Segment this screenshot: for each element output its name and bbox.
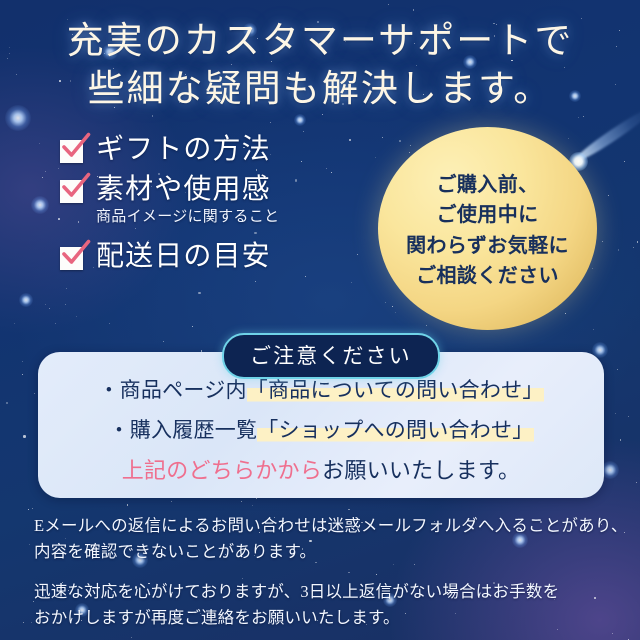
headline-line-1: 充実のカスタマーサポートで (0, 18, 640, 66)
notice-line-2-highlight: 「ショップへの問い合わせ」 (257, 418, 533, 442)
check-mark-glyph (61, 240, 91, 270)
check-mark-glyph (61, 173, 91, 203)
list-item-label: ギフトの方法 (96, 133, 271, 167)
check-mark-icon (60, 180, 83, 203)
list-item: 配送日の目安 (60, 240, 390, 274)
footer-p1-line2: 内容を確認できないことがあります。 (34, 539, 614, 565)
footer-p1-line1: Eメールへの返信によるお問い合わせは迷惑メールフォルダへ入ることがあり、 (34, 513, 614, 539)
footer-p2-line2: おかけしますが再度ご連絡をお願いいたします。 (34, 605, 614, 631)
list-item: 素材や使用感 (60, 173, 390, 207)
notice-line-3: 上記のどちらかからお願いいたします。 (38, 453, 604, 485)
check-mark-icon (60, 247, 83, 270)
status-badge: ご注意ください (222, 333, 440, 379)
notice-line-2-prefix: ・購入履歴一覧 (108, 418, 257, 442)
notice-line-1-prefix: ・商品ページ内 (98, 378, 246, 402)
gold-circle-text: ご購入前、 ご使用中に 関わらずお気軽に ご相談ください (378, 170, 597, 292)
footer-note: Eメールへの返信によるお問い合わせは迷惑メールフォルダへ入ることがあり、 内容を… (34, 513, 614, 631)
gold-line-3: 関わらずお気軽に (378, 231, 597, 261)
notice-line-3-rest: お願いいたします。 (322, 458, 520, 483)
gold-line-2: ご使用中に (378, 200, 597, 230)
notice-line-3-emphasis: 上記のどちらかから (122, 458, 322, 483)
list-item: ギフトの方法 (60, 133, 390, 167)
notice-line-2: ・購入履歴一覧「ショップへの問い合わせ」 (38, 414, 604, 444)
list-item-label: 配送日の目安 (96, 240, 271, 274)
check-mark-glyph (61, 133, 91, 163)
gold-line-4: ご相談ください (378, 261, 597, 291)
gold-line-1: ご購入前、 (378, 170, 597, 200)
check-mark-icon (60, 140, 83, 163)
promo-banner: 充実のカスタマーサポートで 些細な疑問も解決します。 ギフトの方法 素材や使用感… (0, 0, 640, 640)
page-title: 充実のカスタマーサポートで 些細な疑問も解決します。 (0, 18, 640, 114)
headline-line-2: 些細な疑問も解決します。 (0, 66, 640, 114)
list-item-sublabel: 商品イメージに関すること (96, 205, 390, 226)
gold-circle-callout: ご購入前、 ご使用中に 関わらずお気軽に ご相談ください (378, 127, 597, 330)
list-item-label: 素材や使用感 (96, 173, 271, 207)
notice-line-1-highlight: 「商品についての問い合わせ」 (247, 378, 544, 402)
footer-p2-line1: 迅速な対応を心がけておりますが、3日以上返信がない場合はお手数を (34, 579, 614, 605)
checklist: ギフトの方法 素材や使用感 商品イメージに関すること 配送日の目安 (60, 133, 390, 280)
